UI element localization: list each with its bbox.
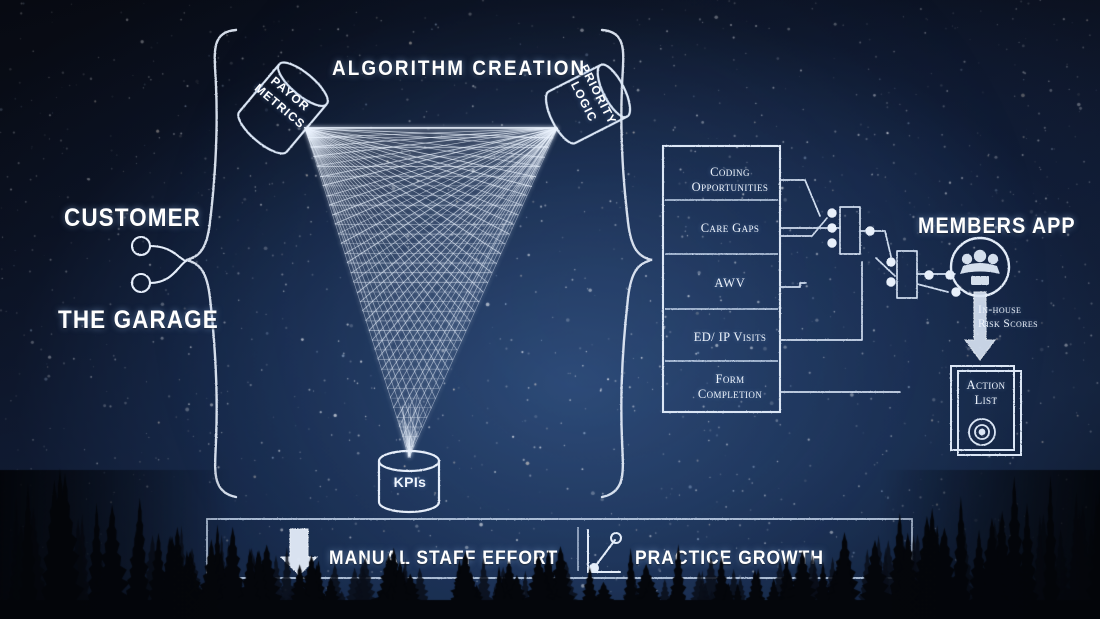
legend-practice-growth-label: PRACTICE GROWTH [635, 548, 824, 570]
growth-chart-icon [588, 530, 621, 572]
down-arrow-icon [281, 529, 317, 575]
left-brace [186, 30, 236, 497]
risk-scores-down-arrow-icon [965, 292, 995, 360]
algorithm-funnel-stringart [304, 127, 557, 457]
the-garage-label: THE GARAGE [58, 306, 219, 335]
members-app-magnifier-icon [951, 238, 1009, 296]
connector-circuit-network [780, 180, 960, 392]
action-list-document [951, 366, 1021, 455]
page-title: ALGORITHM CREATION [332, 57, 586, 81]
circuit-node-2 [897, 251, 917, 298]
outputs-list-panel [663, 146, 780, 412]
right-brace [602, 30, 652, 497]
legend-manual-staff-effort-label: MANUAL STAFF EFFORT [329, 548, 558, 570]
diagram-canvas: ALGORITHM CREATION CUSTOMER THE GARAGE M… [0, 0, 1100, 619]
customer-garage-connector [132, 237, 186, 292]
customer-label: CUSTOMER [64, 204, 201, 233]
kpis-cylinder [379, 451, 439, 512]
members-app-heading: MEMBERS APP [918, 213, 1076, 239]
action-list-seal-icon [969, 419, 995, 445]
circuit-node-1 [840, 207, 860, 254]
